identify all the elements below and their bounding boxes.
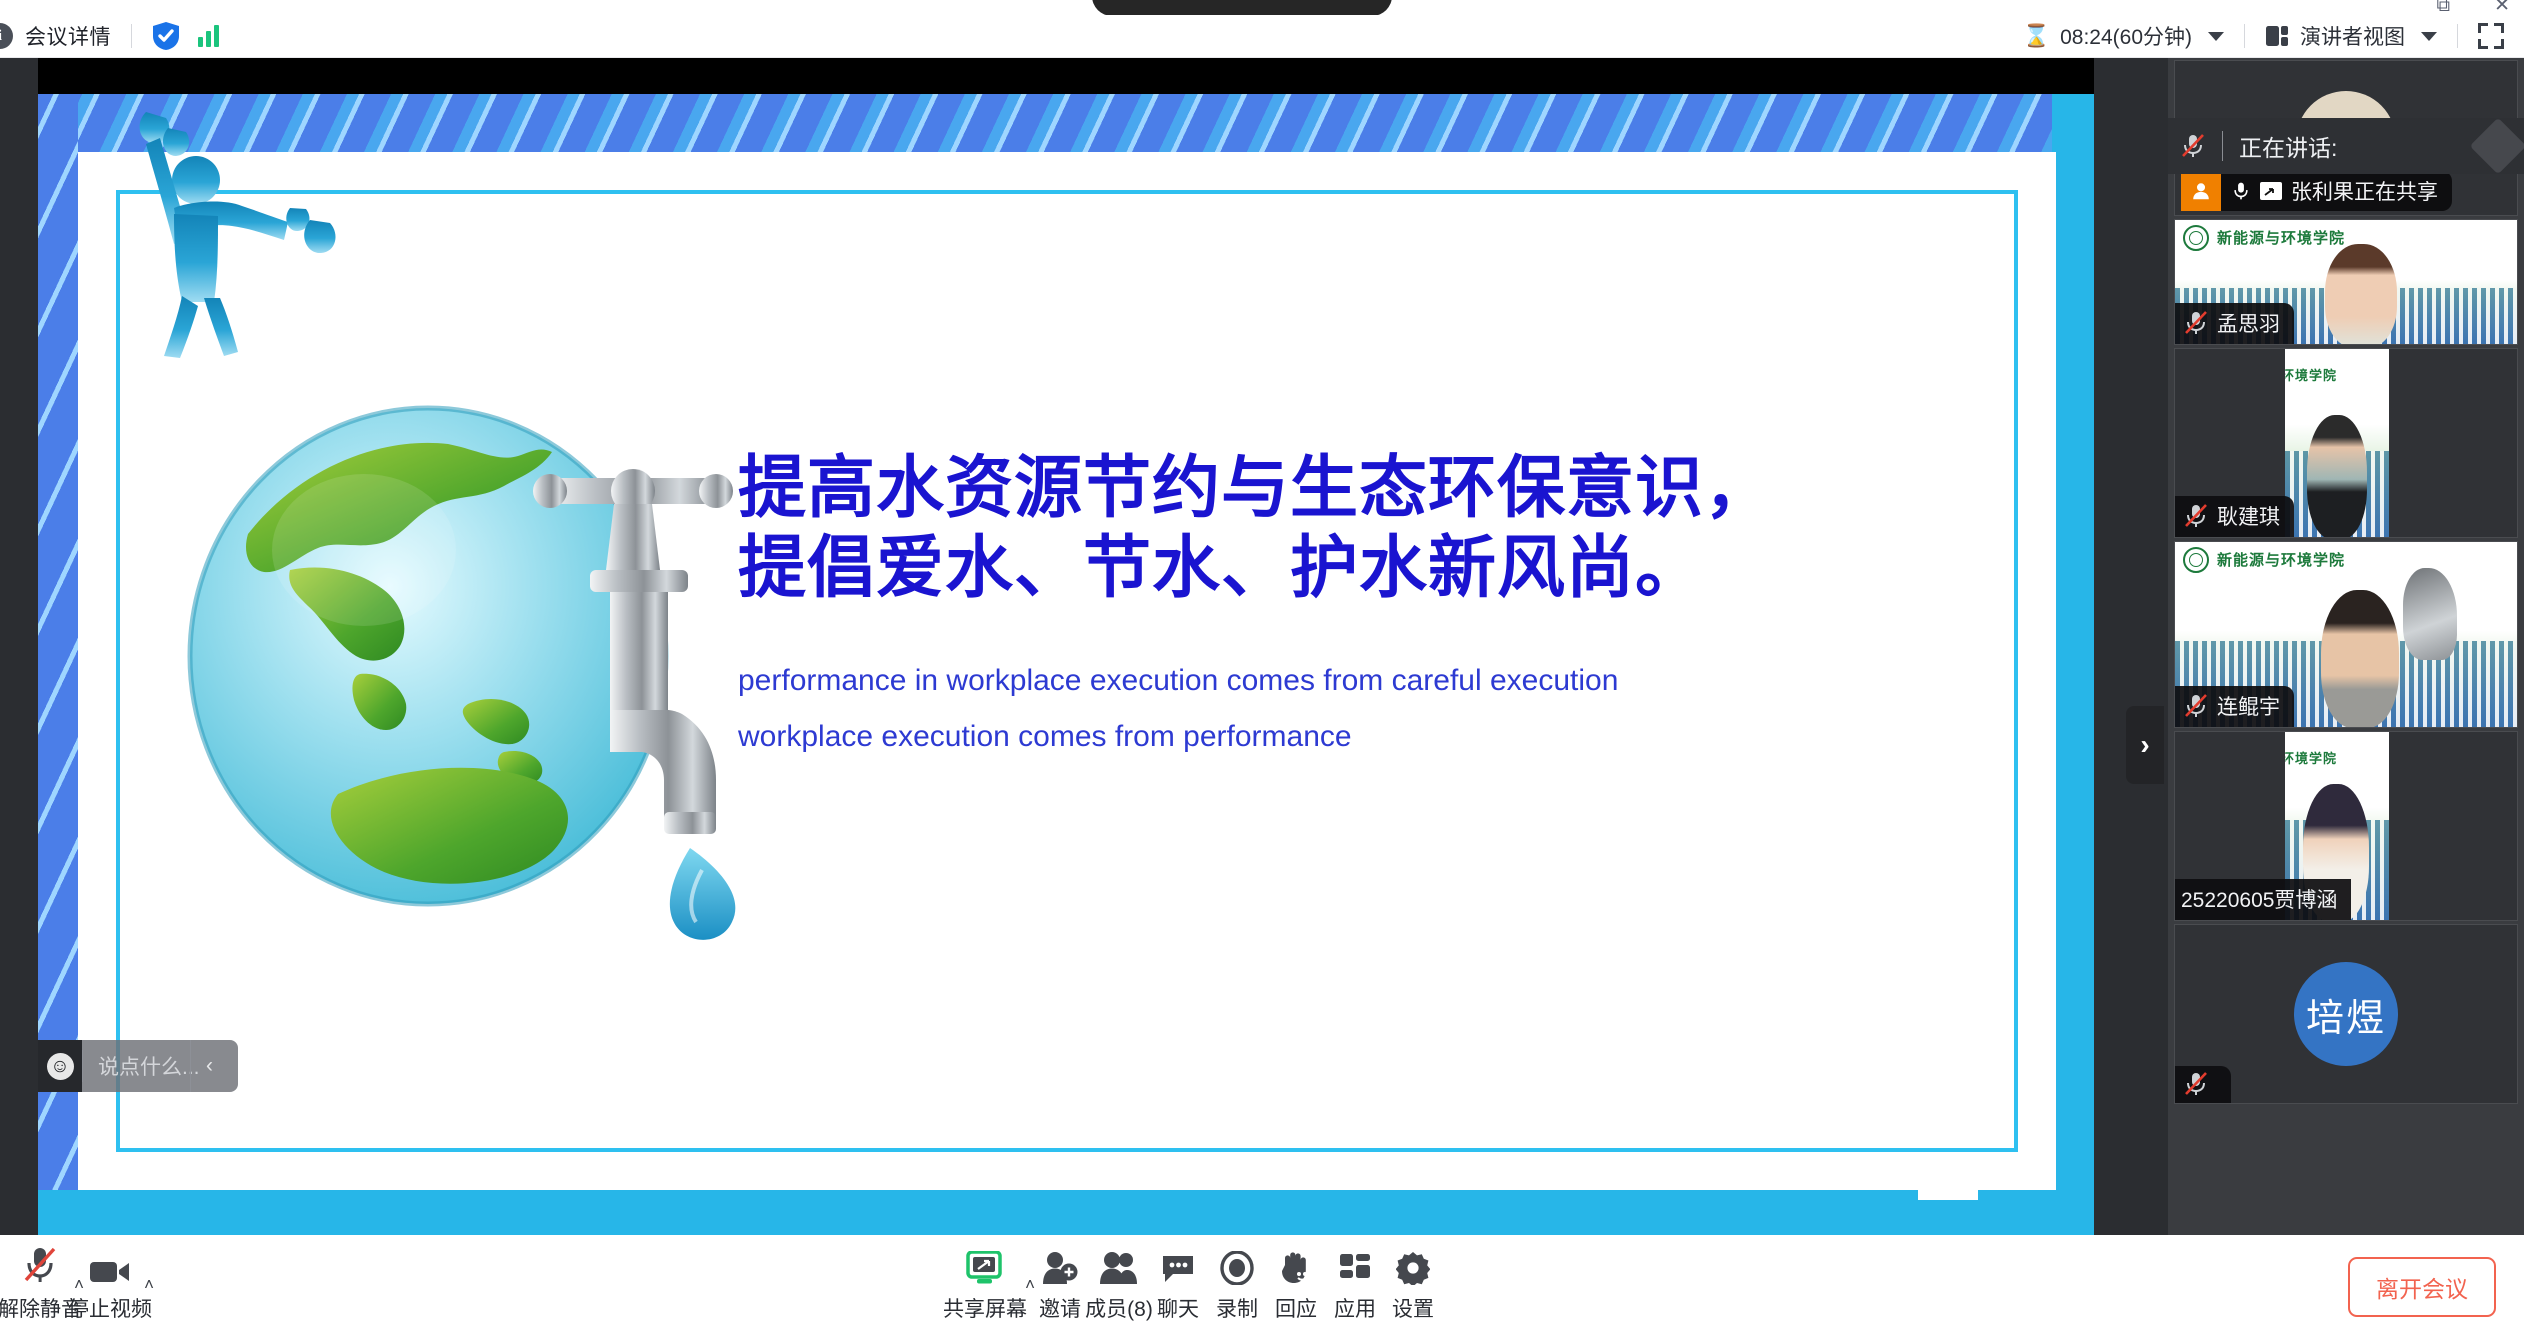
meeting-stage: 提高水资源节约与生态环保意识， 提倡爱水、节水、护水新风尚。 performan… <box>0 58 2524 1235</box>
header-divider-1 <box>131 24 132 48</box>
quick-chat-input[interactable]: 说点什么... ‹ <box>82 1040 238 1092</box>
slide-title-line-2: 提倡爱水、节水、护水新风尚。 <box>738 529 1918 609</box>
mic-muted-icon <box>2183 693 2209 719</box>
video-tile-participant[interactable]: 环境学院 耿建琪 <box>2174 348 2518 538</box>
school-logo-icon <box>2183 547 2209 573</box>
video-tile-participant[interactable]: 培煜 <box>2174 924 2518 1104</box>
view-mode-text: 演讲者视图 <box>2300 21 2405 51</box>
active-speaker-bar: 正在讲话: <box>2168 118 2524 174</box>
avatar: 培煜 <box>2294 962 2398 1066</box>
view-mode-selector[interactable]: 演讲者视图 <box>2265 21 2437 51</box>
video-camera-icon[interactable] <box>89 1243 131 1285</box>
window-floating-pill <box>1092 0 1392 16</box>
slide-right-stripe <box>2052 94 2094 1238</box>
meeting-timer[interactable]: ⌛ 08:24(60分钟) <box>2023 21 2224 51</box>
toolbar-item-settings[interactable]: 设置 <box>1353 1243 1473 1323</box>
mic-muted-icon <box>2180 133 2206 159</box>
quick-chat-bar[interactable]: ☺ 说点什么... ‹ <box>38 1040 238 1092</box>
background-object <box>2403 568 2457 660</box>
participant-portrait <box>2325 244 2397 345</box>
header-divider-2 <box>2244 24 2245 48</box>
mic-muted-icon <box>2183 1071 2209 1097</box>
participant-name-chip <box>2175 1066 2231 1103</box>
screen-share-icon <box>2259 181 2283 201</box>
participant-name-chip: 连鲲宇 <box>2175 686 2294 727</box>
participant-name: 耿建琪 <box>2217 501 2280 531</box>
hourglass-icon: ⌛ <box>2023 23 2050 49</box>
slide-subtitle-line-2: workplace execution comes from performan… <box>738 709 1918 765</box>
school-name-label: 环境学院 <box>2285 748 2337 767</box>
video-tile-participant[interactable]: 新能源与环境学院 孟思羽 <box>2174 219 2518 345</box>
presentation-slide: 提高水资源节约与生态环保意识， 提倡爱水、节水、护水新风尚。 performan… <box>38 94 2094 1238</box>
quick-chat-placeholder: 说点什么... <box>98 1051 200 1081</box>
emoji-button[interactable]: ☺ <box>38 1040 82 1092</box>
slide-text-block: 提高水资源节约与生态环保意识， 提倡爱水、节水、护水新风尚。 performan… <box>738 449 1918 764</box>
meeting-control-toolbar: 解除静音 ˅ 停止视频 ˅ 共享屏幕 ˅ <box>0 1235 2524 1330</box>
participant-portrait <box>2307 415 2367 537</box>
video-tile-participant[interactable]: 新能源与环境学院 连鲲宇 <box>2174 541 2518 728</box>
water-droplet-person-icon <box>138 110 348 360</box>
participant-name-chip: 25220605贾博涵 <box>2175 879 2351 920</box>
header-left-group: i 会议详情 <box>0 21 219 51</box>
gear-icon[interactable] <box>1396 1243 1430 1285</box>
mic-icon <box>2231 179 2251 203</box>
chevron-down-icon[interactable] <box>2421 32 2437 41</box>
info-icon[interactable]: i <box>0 23 13 49</box>
meeting-header-bar: i 会议详情 ⌛ 08:24(60分钟) <box>0 15 2524 58</box>
leave-meeting-button[interactable]: 离开会议 <box>2348 1257 2496 1317</box>
person-icon <box>2181 171 2221 211</box>
participant-name: 孟思羽 <box>2217 308 2280 338</box>
shield-check-icon[interactable] <box>152 21 180 51</box>
mic-muted-icon <box>2183 310 2209 336</box>
participant-name: 25220605贾博涵 <box>2181 884 2337 914</box>
sharing-status-chip: 张利果正在共享 <box>2181 171 2452 211</box>
slide-bottom-notch <box>1918 1174 1978 1200</box>
toolbar-label-stop-video: 停止视频 <box>68 1293 152 1323</box>
toolbar-item-stop-video[interactable]: 停止视频 ˅ <box>50 1243 170 1323</box>
restore-icon[interactable]: ⧉ <box>2437 0 2451 15</box>
layout-icon <box>2265 24 2289 48</box>
speaking-divider <box>2222 131 2223 161</box>
close-icon[interactable]: ✕ <box>2494 0 2510 15</box>
window-controls[interactable]: ⧉ ✕ <box>2437 0 2511 15</box>
participant-name-chip: 耿建琪 <box>2175 496 2294 537</box>
school-logo-icon <box>2183 225 2209 251</box>
slide-title-line-1: 提高水资源节约与生态环保意识， <box>738 449 1918 529</box>
participant-name-chip: 孟思羽 <box>2175 303 2294 344</box>
chat-divider <box>82 1050 83 1082</box>
school-name-label: 环境学院 <box>2285 365 2337 384</box>
sharing-status-text: 张利果正在共享 <box>2291 176 2452 206</box>
mic-muted-icon <box>2183 503 2209 529</box>
school-name-label: 新能源与环境学院 <box>2217 227 2345 248</box>
decorative-diamond-icon <box>2470 118 2524 175</box>
chevron-down-icon[interactable] <box>2208 32 2224 41</box>
chevron-up-icon[interactable]: ˅ <box>144 1273 154 1293</box>
signal-strength-icon[interactable] <box>198 25 219 47</box>
window-title-strip: ⧉ ✕ <box>0 0 2524 15</box>
fullscreen-icon[interactable] <box>2478 23 2504 49</box>
chevron-left-icon[interactable]: ‹ <box>190 1040 228 1092</box>
participant-portrait <box>2321 590 2399 728</box>
meeting-timer-text: 08:24(60分钟) <box>2060 21 2192 51</box>
header-right-group: ⌛ 08:24(60分钟) 演讲者视图 <box>2023 21 2524 51</box>
active-speaker-label: 正在讲话: <box>2239 129 2337 163</box>
meeting-detail-label[interactable]: 会议详情 <box>25 21 111 51</box>
participant-video: 环境学院 <box>2285 349 2389 537</box>
chevron-right-icon[interactable]: › <box>2126 706 2164 784</box>
slide-bottom-stripe <box>38 1190 2094 1238</box>
participant-name: 连鲲宇 <box>2217 691 2280 721</box>
participants-video-panel[interactable]: 张利果正在共享 正在讲话: 新能源与环境学院 <box>2168 58 2524 1235</box>
earth-globe-faucet-icon <box>178 374 818 964</box>
toolbar-label-settings: 设置 <box>1392 1293 1434 1323</box>
emoji-icon[interactable]: ☺ <box>47 1053 74 1080</box>
screen-share-icon[interactable] <box>966 1243 1004 1285</box>
header-divider-3 <box>2457 24 2458 48</box>
shared-screen-area[interactable]: 提高水资源节约与生态环保意识， 提倡爱水、节水、护水新风尚。 performan… <box>38 58 2094 1238</box>
school-name-label: 新能源与环境学院 <box>2217 549 2345 570</box>
slide-subtitle-line-1: performance in workplace execution comes… <box>738 653 1918 709</box>
shared-screen-topbar <box>38 58 2094 94</box>
video-tile-participant[interactable]: 环境学院 25220605贾博涵 <box>2174 731 2518 921</box>
